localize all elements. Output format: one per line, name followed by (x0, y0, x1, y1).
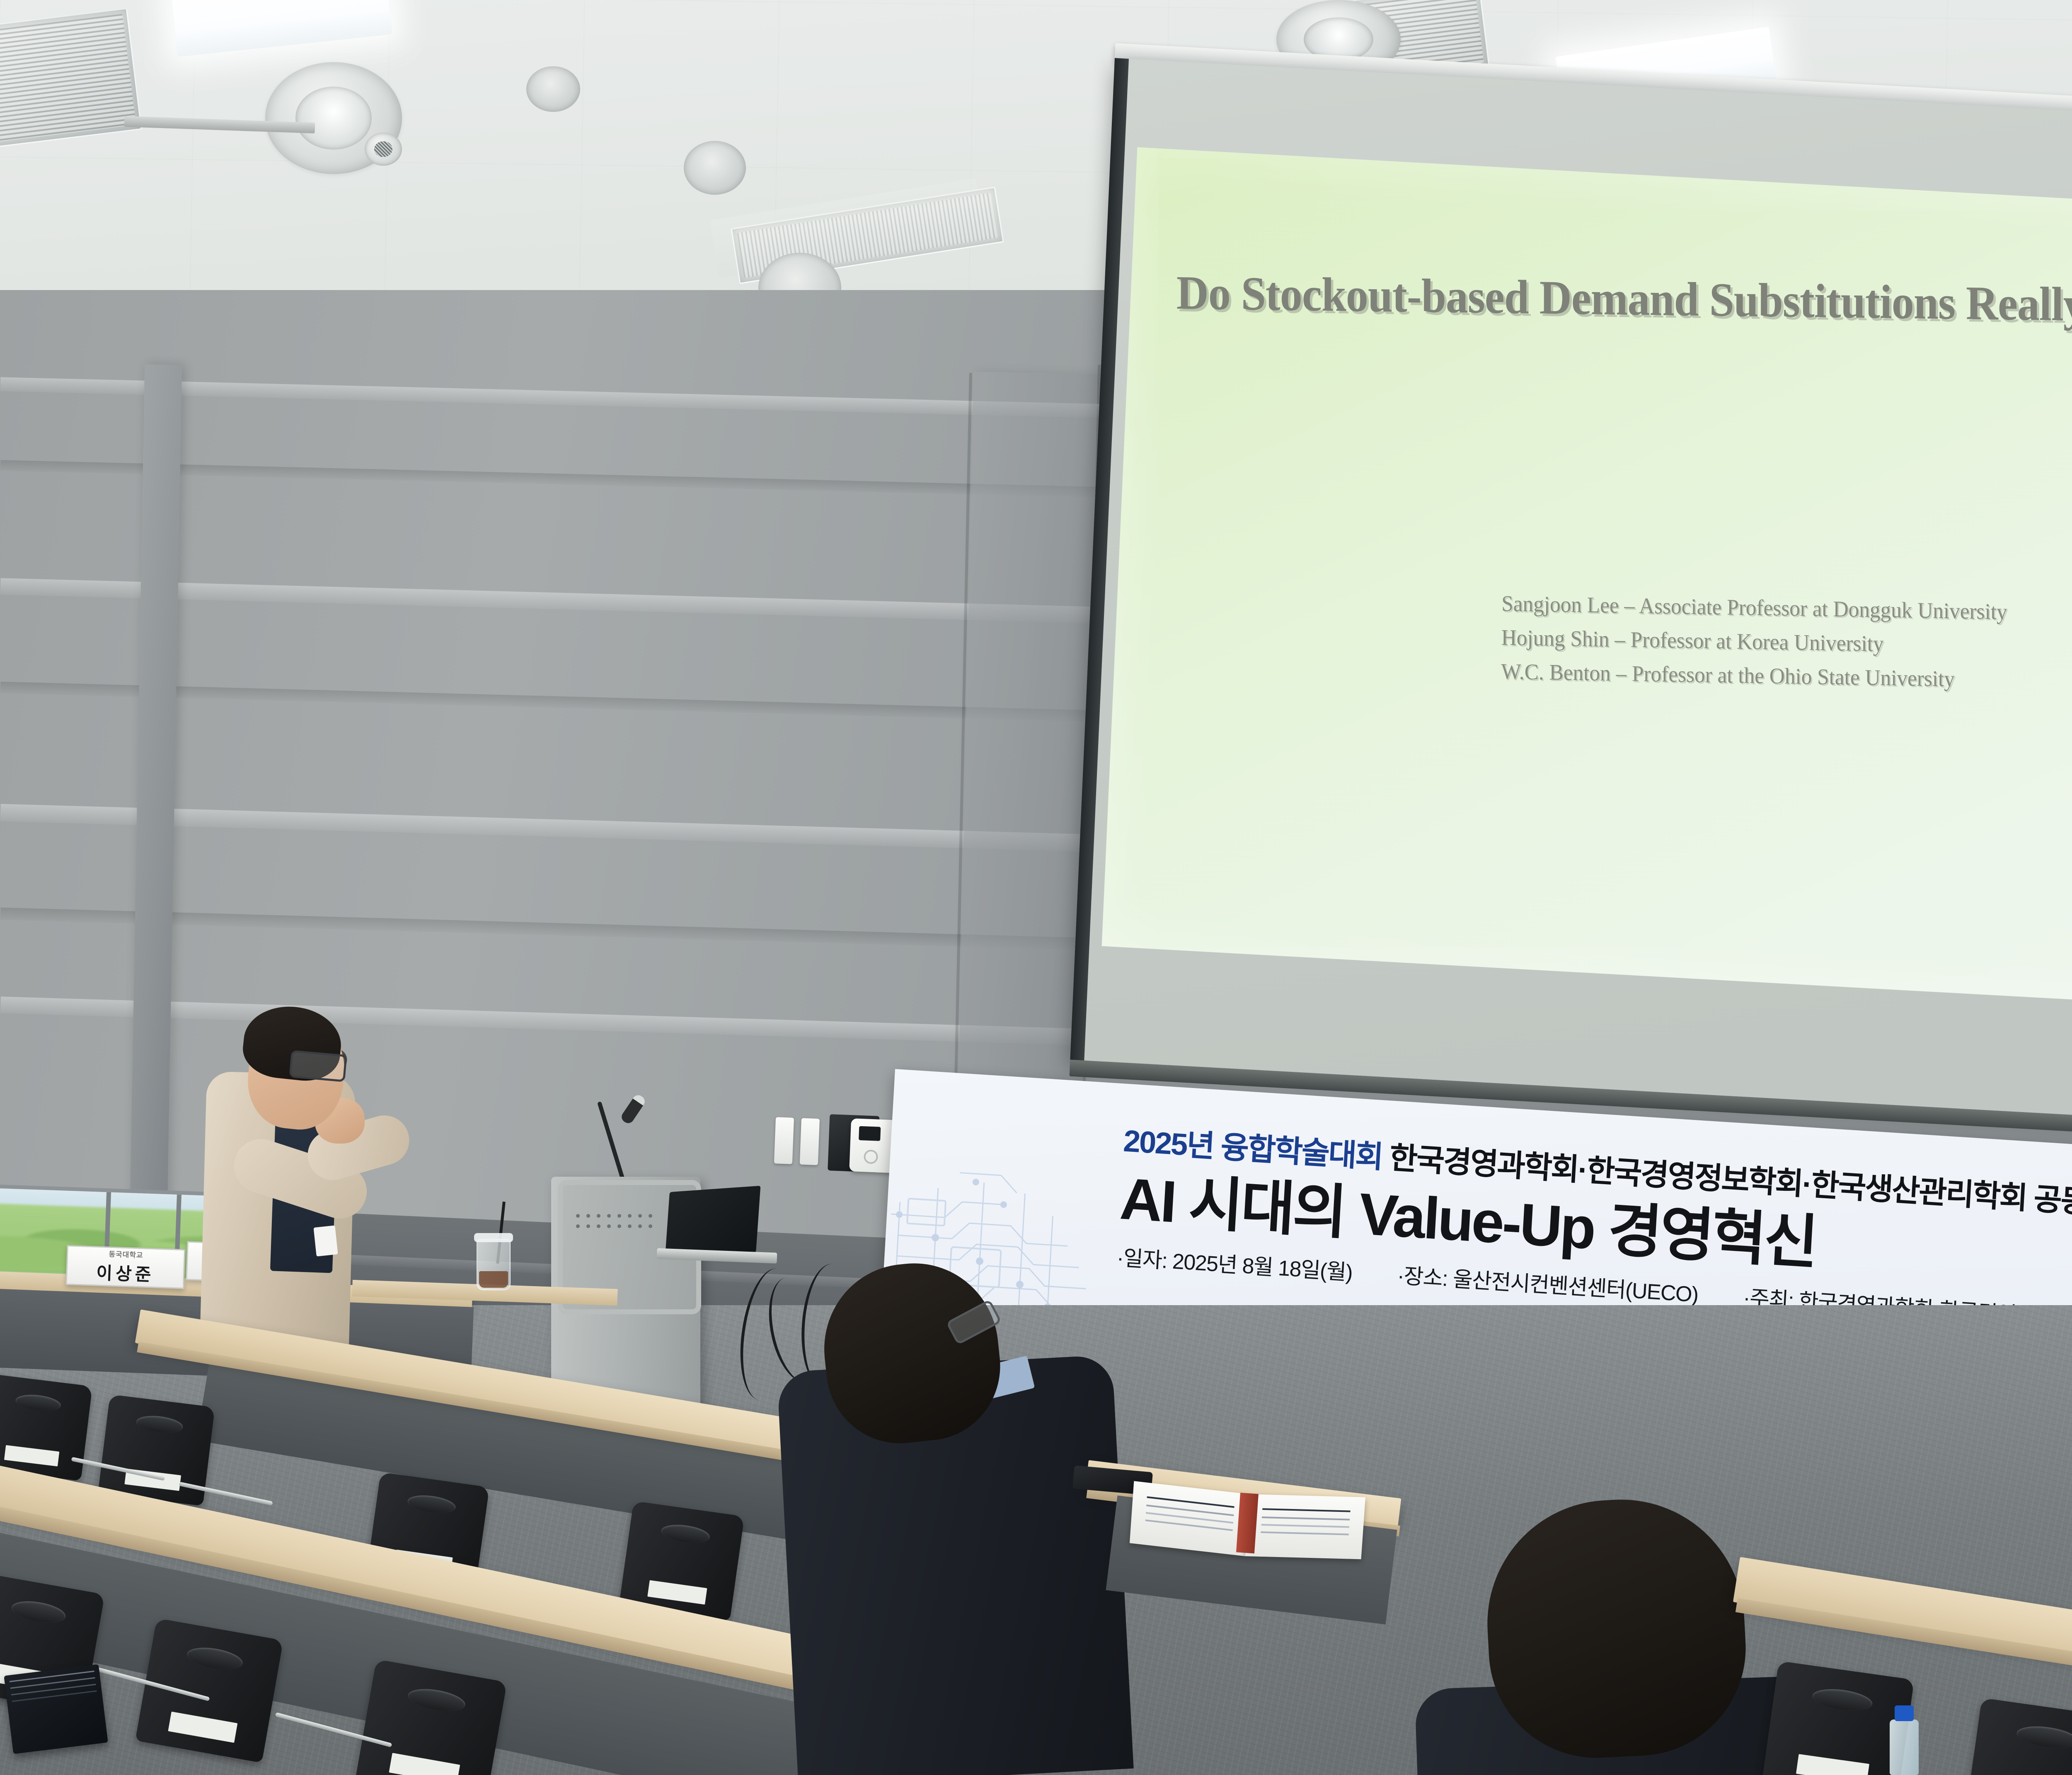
booklet-right-page (1245, 1494, 1365, 1559)
slide-author-list: Sangjoon Lee – Associate Professor at Do… (1501, 586, 2072, 700)
ceiling-speaker-1 (526, 66, 580, 112)
water-bottle-blue-cap[interactable] (1890, 1719, 1919, 1775)
podium-laptop-screen (665, 1186, 761, 1259)
screen-surface: Do Stockout-based Demand Substitutions R… (1070, 58, 2072, 1128)
booklet-left-page (1130, 1481, 1249, 1556)
hvac-vent-1 (0, 8, 142, 148)
projection-screen: Do Stockout-based Demand Substitutions R… (1067, 58, 2072, 1194)
presenter-glasses (289, 1050, 347, 1082)
iced-coffee-cup (477, 1239, 511, 1290)
ceiling-speaker-2 (684, 141, 746, 195)
placard-university-label: 동국대학교 (109, 1248, 143, 1260)
banner-year-label: 2025년 융합학술대회 (1123, 1123, 1383, 1174)
conference-room-photo: Do Stockout-based Demand Substitutions R… (0, 0, 2072, 1775)
podium-vent-dots-top (576, 1214, 652, 1228)
light-switch-2[interactable] (800, 1118, 820, 1165)
placard-name: 동국대학교 이상준 (65, 1245, 185, 1289)
smoke-detector-1 (365, 133, 402, 166)
placard-name-label: 이상준 (96, 1259, 155, 1287)
chair-right-c2[interactable] (1965, 1698, 2072, 1775)
banner-detail-place: ·장소: 울산전시컨벤션센터(UECO) (1397, 1264, 1699, 1307)
slide-title: Do Stockout-based Demand Substitutions R… (1176, 266, 2072, 334)
blue-bottle-cap (1895, 1705, 1914, 1721)
chair-r2-c2[interactable] (135, 1618, 283, 1763)
chair-r1-c1[interactable] (0, 1374, 92, 1481)
cup-liquid (479, 1271, 508, 1288)
projected-slide: Do Stockout-based Demand Substitutions R… (1102, 147, 2072, 1010)
light-switch-1[interactable] (774, 1117, 794, 1164)
tablet-device[interactable] (4, 1664, 108, 1754)
cup-lid (474, 1233, 513, 1242)
presenter-name-badge (313, 1225, 338, 1256)
